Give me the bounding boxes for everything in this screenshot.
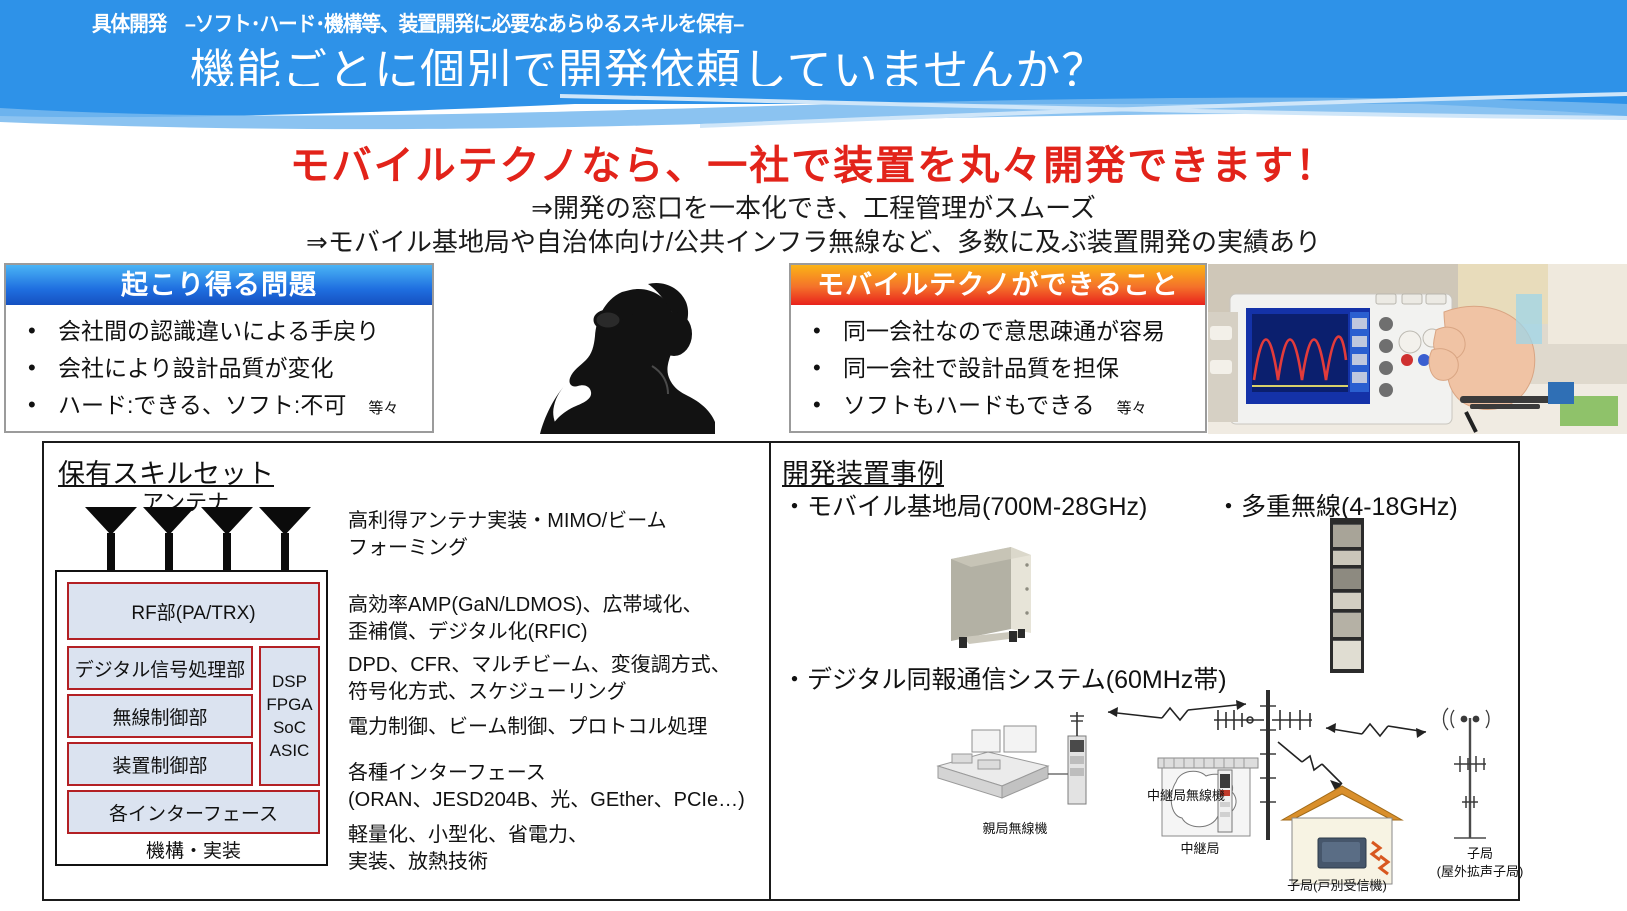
antenna-icons bbox=[55, 505, 328, 575]
skill-text-line: 電力制御、ビーム制御、プロトコル処理 bbox=[348, 714, 707, 741]
block-digital-signal-processing: デジタル信号処理部 bbox=[67, 646, 253, 690]
block-rf: RF部(PA/TRX) bbox=[67, 582, 320, 640]
main-headline: モバイルテクノなら、一社で装置を丸々開発できます！ bbox=[0, 133, 1627, 191]
list-item-label: ソフトもハードもできる bbox=[843, 392, 1095, 418]
base-station-enclosure-image bbox=[945, 545, 1037, 650]
headline-sub-2: ⇒モバイル基地局や自治体向け/公共インフラ無線など、多数に及ぶ装置開発の実績あり bbox=[0, 222, 1627, 259]
label-relay-station: 中継局 bbox=[1155, 838, 1245, 857]
label-master-radio: 親局無線機 bbox=[955, 818, 1075, 837]
skill-text-line: 高効率AMP(GaN/LDMOS)、広帯域化、 bbox=[348, 592, 702, 619]
list-item: 同一会社で設計品質を担保 bbox=[809, 350, 1205, 387]
skill-text-antenna: 高利得アンテナ実装・MIMO/ビーム フォーミング bbox=[348, 508, 667, 562]
problems-list: 会社間の認識違いによる手戻り 会社により設計品質が変化 ハード:できる、ソフト:… bbox=[6, 305, 432, 427]
block-radio-control: 無線制御部 bbox=[67, 694, 253, 738]
skillset-block-diagram: RF部(PA/TRX) デジタル信号処理部 無線制御部 装置制御部 各インターフ… bbox=[55, 570, 328, 866]
skill-text-line: 高利得アンテナ実装・MIMO/ビーム bbox=[348, 508, 667, 535]
block-device-control: 装置制御部 bbox=[67, 742, 253, 786]
capabilities-panel-title: モバイルテクノができること bbox=[791, 265, 1205, 305]
skill-text-line: 符号化方式、スケジューリング bbox=[348, 679, 731, 706]
devices-section-title: 開発装置事例 bbox=[782, 452, 944, 491]
list-item-label: ハード:できる、ソフト:不可 bbox=[58, 392, 346, 418]
list-item: 同一会社なので意思疎通が容易 bbox=[809, 313, 1205, 350]
list-item-label: 会社により設計品質が変化 bbox=[58, 355, 334, 381]
skill-text-line: DPD、CFR、マルチビーム、変復調方式、 bbox=[348, 652, 731, 679]
label-sub-outdoor: 子局 bbox=[1420, 843, 1540, 862]
list-item: 会社間の認識違いによる手戻り bbox=[24, 313, 432, 350]
chip-asic: ASIC bbox=[270, 739, 310, 762]
label-relay-radio: 中継局無線機 bbox=[1126, 785, 1246, 804]
skill-text-interfaces: 各種インターフェース (ORAN、JESD204B、光、GEther、PCIe…… bbox=[348, 760, 745, 814]
capabilities-list: 同一会社なので意思疎通が容易 同一会社で設計品質を担保 ソフトもハードもできる等… bbox=[791, 305, 1205, 427]
list-item: 会社により設計品質が変化 bbox=[24, 350, 432, 387]
skill-text-line: 各種インターフェース bbox=[348, 760, 745, 787]
block-chips: DSP FPGA SoC ASIC bbox=[259, 646, 320, 786]
list-tail: 等々 bbox=[1117, 400, 1147, 417]
problems-panel-title: 起こり得る問題 bbox=[6, 265, 432, 305]
skill-text-rf: 高効率AMP(GaN/LDMOS)、広帯域化、 歪補償、デジタル化(RFIC) bbox=[348, 592, 702, 646]
list-item-label: 同一会社で設計品質を担保 bbox=[843, 355, 1119, 381]
problems-panel: 起こり得る問題 会社間の認識違いによる手戻り 会社により設計品質が変化 ハード:… bbox=[4, 263, 434, 433]
skill-text-line: 軽量化、小型化、省電力、 bbox=[348, 822, 588, 849]
list-item-label: 会社間の認識違いによる手戻り bbox=[58, 318, 379, 344]
headline-sub-1: ⇒開発の窓口を一本化でき、工程管理がスムーズ bbox=[0, 188, 1627, 225]
chip-soc: SoC bbox=[273, 716, 306, 739]
oscilloscope-photo bbox=[1208, 264, 1627, 434]
bottom-box-divider bbox=[769, 441, 771, 901]
skill-text-line: (ORAN、JESD204B、光、GEther、PCIe…) bbox=[348, 787, 745, 814]
label-sub-house: 子局(戸別受信機) bbox=[1262, 875, 1412, 894]
list-item-label: 同一会社なので意思疎通が容易 bbox=[843, 318, 1165, 344]
mechanical-label: 機構・実装 bbox=[57, 836, 330, 863]
capabilities-panel: モバイルテクノができること 同一会社なので意思疎通が容易 同一会社で設計品質を担… bbox=[789, 263, 1207, 433]
block-interfaces: 各インターフェース bbox=[67, 790, 320, 834]
skill-text-dsp: DPD、CFR、マルチビーム、変復調方式、 符号化方式、スケジューリング bbox=[348, 652, 731, 706]
skill-text-line: 実装、放熱技術 bbox=[348, 849, 588, 876]
skill-text-control: 電力制御、ビーム制御、プロトコル処理 bbox=[348, 714, 707, 741]
multiplex-radio-rack-image bbox=[1330, 518, 1364, 673]
skill-text-line: フォーミング bbox=[348, 535, 667, 562]
label-sub-outdoor-detail: (屋外拡声子局) bbox=[1410, 861, 1550, 880]
header-title: 機能ごとに個別で開発依頼していませんか？ bbox=[190, 34, 1107, 99]
skill-text-mechanical: 軽量化、小型化、省電力、 実装、放熱技術 bbox=[348, 822, 588, 876]
chip-fpga: FPGA bbox=[266, 693, 312, 716]
list-item: ソフトもハードもできる等々 bbox=[809, 387, 1205, 427]
device-item-basestation: ・モバイル基地局(700M-28GHz) bbox=[782, 487, 1147, 523]
list-item: ハード:できる、ソフト:不可等々 bbox=[24, 387, 432, 427]
thinking-person-silhouette bbox=[452, 262, 782, 434]
skill-text-line: 歪補償、デジタル化(RFIC) bbox=[348, 619, 702, 646]
page-header: 具体開発 –ソフト･ハード･機構等、装置開発に必要なあらゆるスキルを保有– 機能… bbox=[0, 0, 1627, 104]
list-tail: 等々 bbox=[368, 400, 398, 417]
chip-dsp: DSP bbox=[272, 670, 307, 693]
